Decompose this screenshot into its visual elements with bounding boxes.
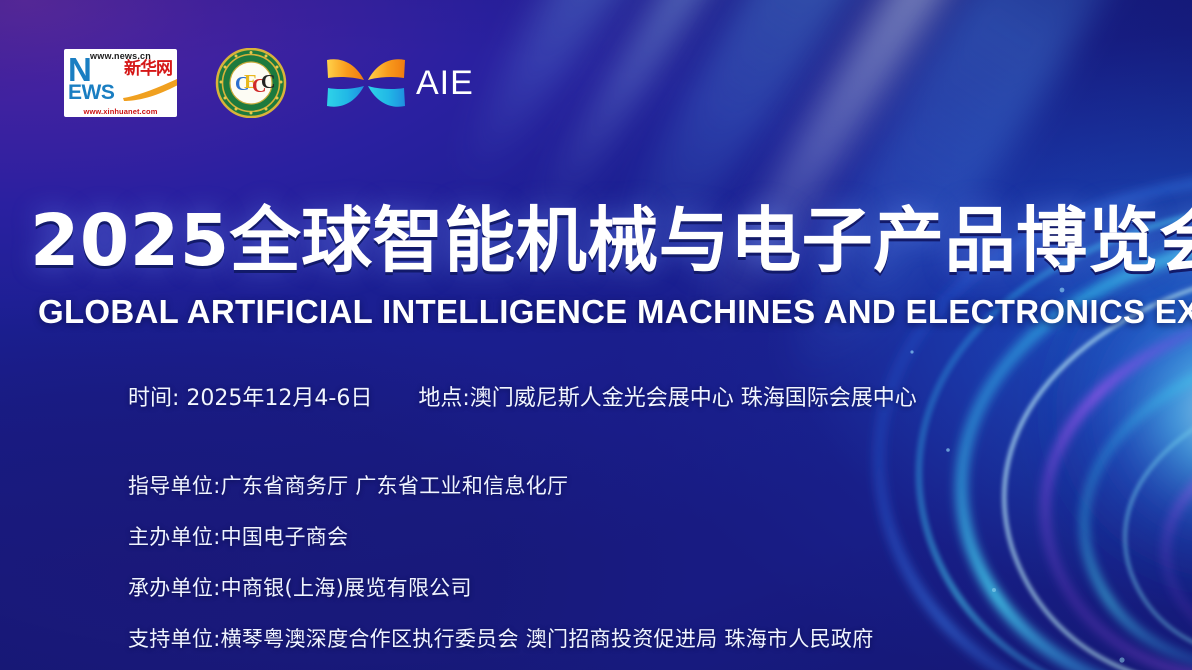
cecc-logo[interactable]: C E C C — [215, 48, 287, 118]
organizer-line-guidance: 指导单位:广东省商务厅 广东省工业和信息化厅 — [128, 470, 874, 500]
main-title-chinese: 2025全球智能机械与电子产品博览会 — [30, 199, 1180, 283]
event-date: 时间: 2025年12月4-6日 — [128, 380, 372, 412]
event-venue: 地点:澳门威尼斯人金光会展中心 珠海国际会展中心 — [418, 380, 916, 412]
xinhua-chinese-name: 新华网 — [124, 61, 174, 78]
xinhua-bottom-url-text: www.xinhuanet.com — [64, 107, 177, 116]
organizers-block: 指导单位:广东省商务厅 广东省工业和信息化厅 主办单位:中国电子商会 承办单位:… — [128, 470, 874, 653]
aie-butterfly-icon — [325, 54, 407, 112]
main-title-english: GLOBAL ARTIFICIAL INTELLIGENCE MACHINES … — [38, 293, 1188, 331]
expo-banner: www.news.cn N EWS 新华网 www.xinhuanet.com — [0, 0, 1192, 670]
cecc-seal-icon: C E C C — [215, 48, 287, 118]
partner-logo-row: www.news.cn N EWS 新华网 www.xinhuanet.com — [64, 47, 474, 119]
organizer-line-support: 支持单位:横琴粤澳深度合作区执行委员会 澳门招商投资促进局 珠海市人民政府 — [128, 623, 874, 653]
xinhua-news-wordmark: N EWS — [68, 60, 114, 103]
organizer-line-organizer: 承办单位:中商银(上海)展览有限公司 — [128, 572, 874, 602]
xinhua-news-logo[interactable]: www.news.cn N EWS 新华网 www.xinhuanet.com — [64, 49, 177, 117]
xinhua-logo-mark: N EWS 新华网 — [64, 60, 177, 105]
svg-text:C: C — [261, 71, 275, 93]
xinhua-news-line2: EWS — [68, 82, 114, 103]
organizer-line-host: 主办单位:中国电子商会 — [128, 521, 874, 551]
xinhua-swoosh-icon — [121, 77, 177, 101]
aie-wordmark: AIE — [416, 64, 474, 103]
event-info-line: 时间: 2025年12月4-6日 地点:澳门威尼斯人金光会展中心 珠海国际会展中… — [128, 380, 917, 412]
aie-logo[interactable]: AIE — [325, 54, 474, 112]
